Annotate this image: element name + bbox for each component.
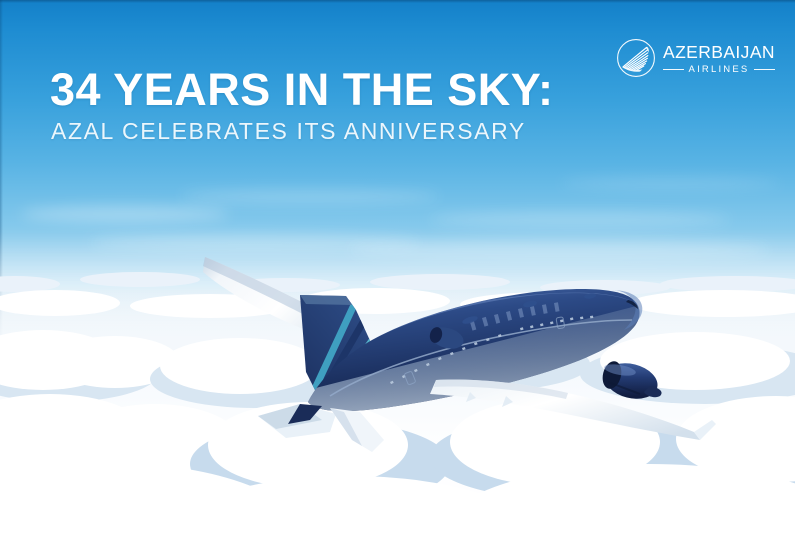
logo-wordmark: AZERBAIJAN AIRLINES [663,42,775,75]
cloud-puff [460,292,640,317]
logo-brand-name: AZERBAIJAN [663,43,775,62]
cloud-deck [0,232,795,540]
cloud-puff [208,402,408,488]
cloud-puff [230,278,340,292]
azal-wing-emblem-icon [616,38,656,78]
cloud-puff [80,272,200,287]
azerbaijan-airlines-logo: AZERBAIJAN AIRLINES [616,36,768,80]
cirrus-wisp [430,212,730,227]
page-subtitle: AZAL CELEBRATES ITS ANNIVERSARY [51,118,526,144]
anniversary-banner: 34 YEARS IN THE SKY: AZAL CELEBRATES ITS… [0,0,795,540]
cirrus-wisp [180,190,440,203]
cirrus-wisp [20,206,230,222]
logo-rule-left [663,69,684,70]
page-title: 34 YEARS IN THE SKY: [50,66,553,114]
cirrus-wisp [560,178,780,189]
cloud-puff [600,332,790,390]
cloud-puff [300,288,450,314]
logo-rule-right [754,69,775,70]
cloud-puff [130,294,290,318]
banner-top-edge [0,0,795,3]
cloud-puff [160,338,320,394]
cloud-puff [378,326,558,382]
logo-subtitle-row: AIRLINES [663,64,775,75]
logo-brand-subtitle: AIRLINES [689,64,750,75]
